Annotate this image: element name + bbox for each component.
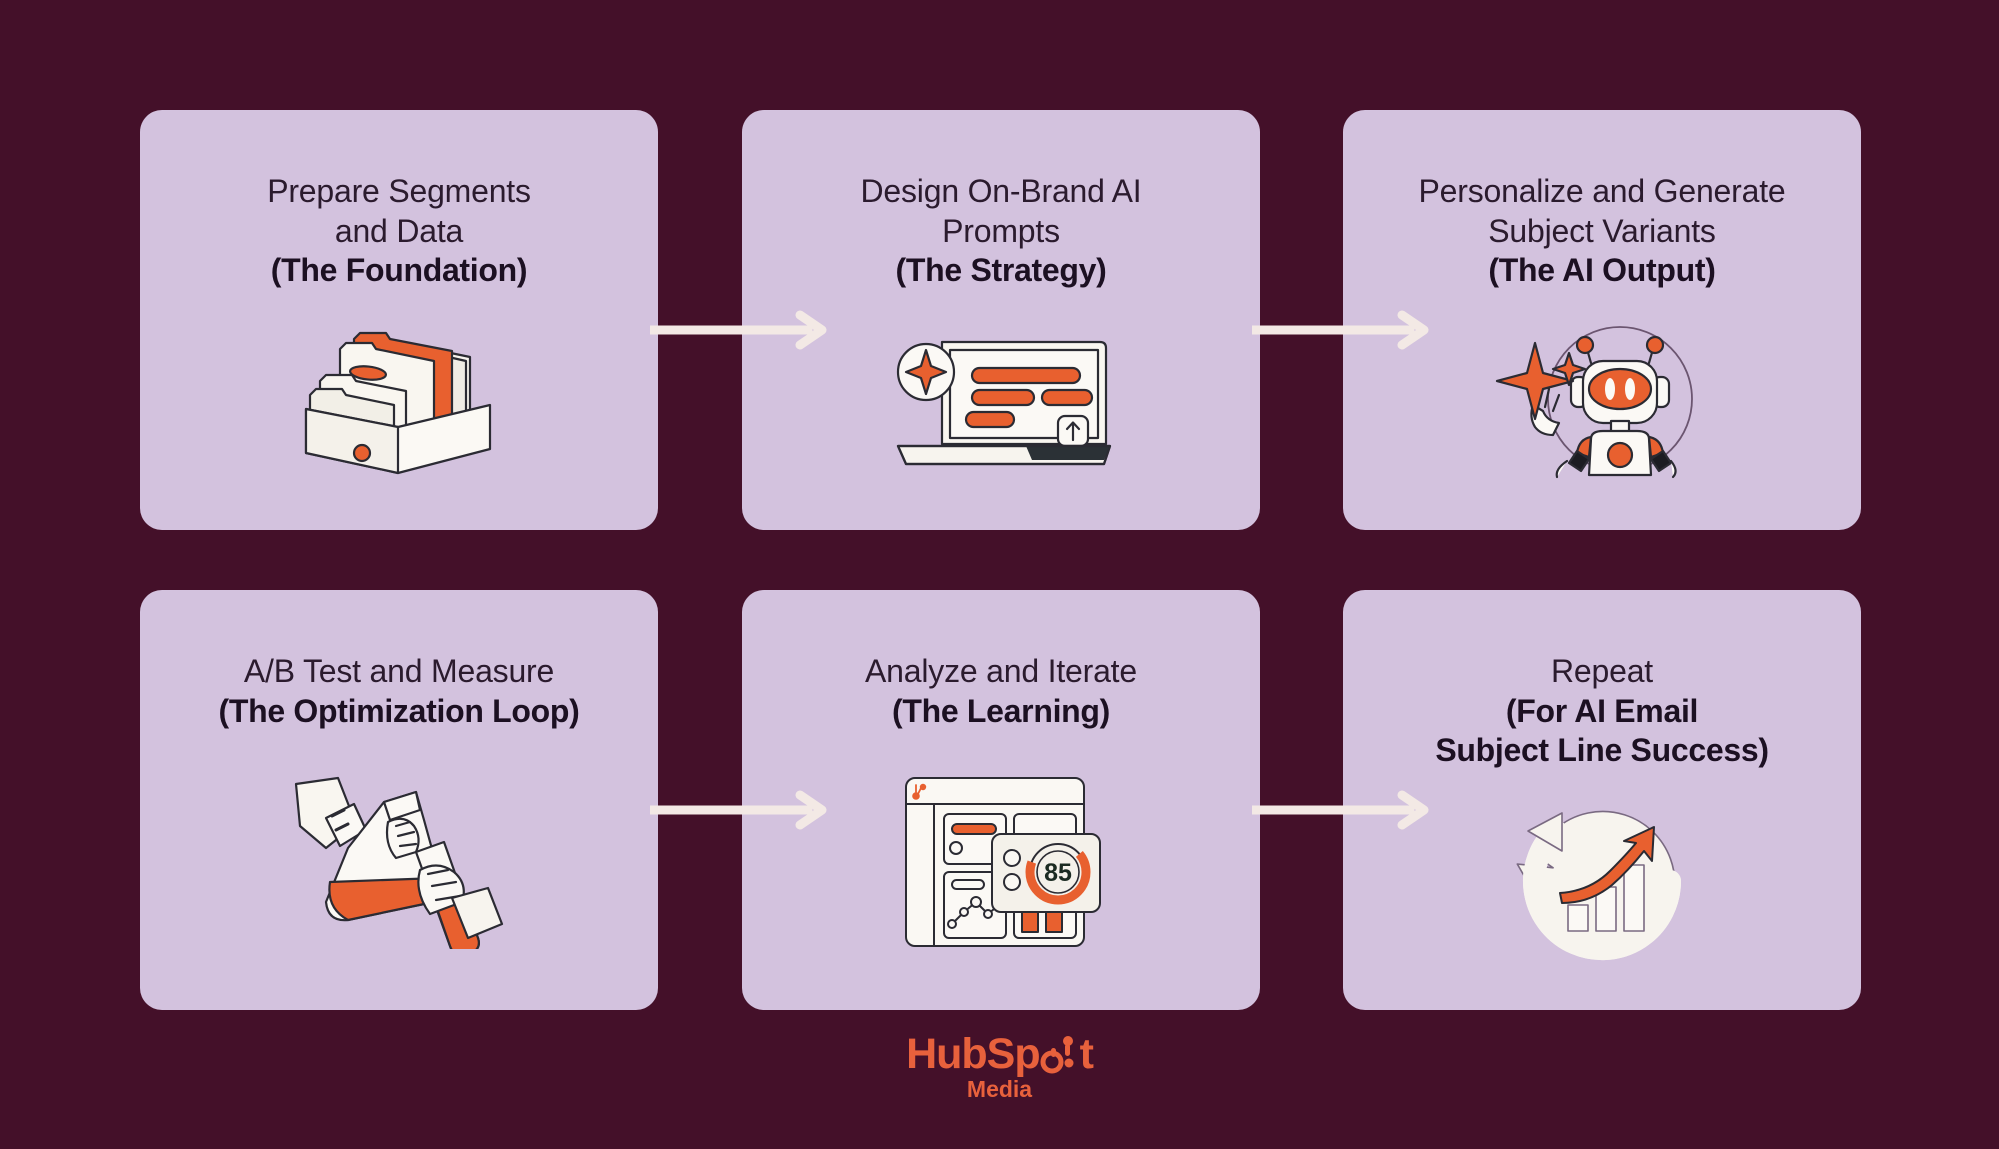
card-title-bold: (The Foundation) (166, 251, 632, 291)
card-title-light: Analyze and Iterate (768, 652, 1234, 692)
card-title-light: Design On-Brand AIPrompts (768, 172, 1234, 251)
card-title: A/B Test and Measure (The Optimization L… (140, 652, 658, 731)
card-title: Prepare Segmentsand Data (The Foundation… (140, 172, 658, 291)
arrow-connector-3 (650, 789, 840, 831)
arrow-connector-1 (650, 309, 840, 351)
card-title: Repeat (For AI EmailSubject Line Success… (1343, 652, 1861, 771)
card-title-light: A/B Test and Measure (166, 652, 632, 692)
card-artwork (140, 291, 658, 530)
growth-loop-icon (1510, 799, 1695, 964)
card-title-light: Repeat (1369, 652, 1835, 692)
card-artwork (140, 731, 658, 1010)
card-title-light: Prepare Segmentsand Data (166, 172, 632, 251)
card-title: Personalize and GenerateSubject Variants… (1343, 172, 1861, 291)
flask-test-tube-icon (292, 774, 507, 949)
card-title-light: Personalize and GenerateSubject Variants (1369, 172, 1835, 251)
dashboard-score-value: 85 (1044, 859, 1072, 887)
card-ab-test-and-measure[interactable]: A/B Test and Measure (The Optimization L… (140, 590, 658, 1010)
logo-sub-label: Media (967, 1078, 1032, 1101)
arrow-connector-2 (1252, 309, 1442, 351)
card-title-bold: (The AI Output) (1369, 251, 1835, 291)
hubspot-sprocket-icon (1038, 1032, 1082, 1076)
hubspot-media-logo: HubSp t Media (0, 1032, 1999, 1101)
file-box-icon (294, 317, 504, 487)
logo-wordmark: HubSp t (906, 1032, 1093, 1076)
robot-icon (1495, 319, 1710, 484)
card-artwork: 85 (742, 731, 1260, 1010)
card-prepare-segments-and-data[interactable]: Prepare Segmentsand Data (The Foundation… (140, 110, 658, 530)
card-title-bold: (The Optimization Loop) (166, 692, 632, 732)
card-title-bold: (For AI EmailSubject Line Success) (1369, 692, 1835, 771)
logo-word-part1: HubSp (906, 1033, 1040, 1076)
infographic-board: Prepare Segmentsand Data (The Foundation… (0, 0, 1999, 1149)
logo-word-part2: t (1080, 1033, 1093, 1076)
laptop-ai-prompt-icon (886, 322, 1116, 482)
card-title: Analyze and Iterate (The Learning) (742, 652, 1260, 731)
analytics-dashboard-icon: 85 (896, 772, 1106, 952)
card-title-bold: (The Strategy) (768, 251, 1234, 291)
card-title-bold: (The Learning) (768, 692, 1234, 732)
card-title: Design On-Brand AIPrompts (The Strategy) (742, 172, 1260, 291)
arrow-connector-4 (1252, 789, 1442, 831)
